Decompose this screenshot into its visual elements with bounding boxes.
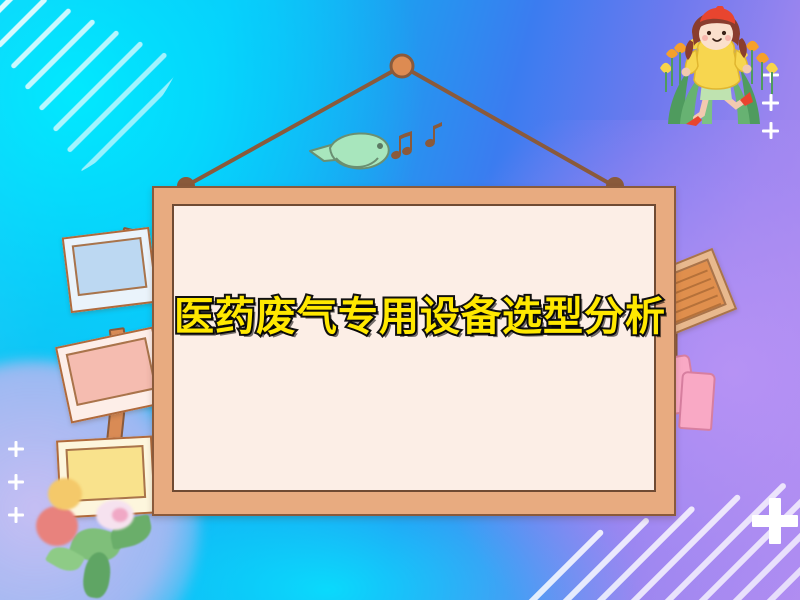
slide-canvas: 医药废气专用设备选型分析	[0, 0, 800, 600]
plus-mark-icon	[8, 474, 24, 490]
plus-mark-large-icon	[752, 498, 798, 544]
plus-mark-icon	[8, 507, 24, 523]
music-note-icon	[390, 131, 413, 160]
page-title: 医药废气专用设备选型分析	[174, 284, 654, 342]
flower-center	[112, 508, 128, 522]
hanging-board-frame: 医药废气专用设备选型分析	[152, 186, 676, 516]
girl-illustration	[650, 6, 780, 136]
board-surface: 医药废气专用设备选型分析	[172, 204, 656, 492]
flower-pink	[36, 506, 78, 546]
photo-image	[72, 237, 148, 296]
pink-tag	[678, 371, 716, 431]
photo-image	[66, 337, 157, 406]
plus-mark-icon	[8, 441, 24, 457]
flower-yellow	[48, 478, 82, 510]
polaroid-photo-blue	[62, 227, 159, 313]
bird-decoration	[300, 118, 450, 178]
green-bird-icon	[310, 133, 389, 168]
music-note-icon	[424, 122, 442, 148]
